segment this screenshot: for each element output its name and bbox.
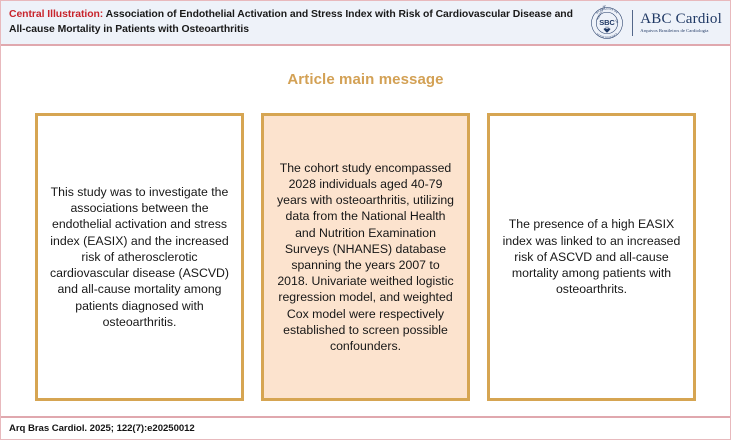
message-panel-methods: The cohort study encompassed 2028 indivi… [261, 113, 470, 401]
panel-text: This study was to investigate the associ… [49, 184, 230, 330]
svg-text:CARDIOLOGIA: CARDIOLOGIA [596, 31, 619, 39]
message-panel-conclusion: The presence of a high EASIX index was l… [487, 113, 696, 401]
poster-header: Central Illustration: Association of End… [1, 1, 730, 46]
logo-divider [632, 10, 633, 36]
panel-text: The cohort study encompassed 2028 indivi… [275, 160, 456, 355]
message-panels: This study was to investigate the associ… [1, 113, 730, 401]
journal-brand: ABC Cardiol [640, 12, 722, 27]
section-title: Article main message [1, 46, 730, 88]
page-title: Central Illustration: Association of End… [9, 8, 589, 36]
svg-text:BRASILEIRA DE: BRASILEIRA DE [595, 6, 619, 14]
journal-name-block: ABC Cardiol Arquivos Brasileiros de Card… [640, 12, 722, 34]
panel-text: The presence of a high EASIX index was l… [501, 216, 682, 297]
central-illustration-label: Central Illustration: [9, 9, 103, 20]
sbc-seal-icon: BRASILEIRA DE CARDIOLOGIA ASSOCIAÇÃO DE … [589, 5, 625, 41]
journal-logo: BRASILEIRA DE CARDIOLOGIA ASSOCIAÇÃO DE … [589, 5, 724, 41]
svg-text:SBC: SBC [600, 17, 616, 26]
central-illustration-poster: Central Illustration: Association of End… [0, 0, 731, 440]
poster-body: Article main message This study was to i… [1, 46, 730, 416]
svg-text:DE: DE [614, 18, 619, 23]
journal-brand-subtitle: Arquivos Brasileiros de Cardiologia [640, 29, 722, 34]
message-panel-objective: This study was to investigate the associ… [35, 113, 244, 401]
citation: Arq Bras Cardiol. 2025; 122(7):e20250012 [9, 423, 195, 434]
poster-footer: Arq Bras Cardiol. 2025; 122(7):e20250012 [1, 416, 730, 439]
